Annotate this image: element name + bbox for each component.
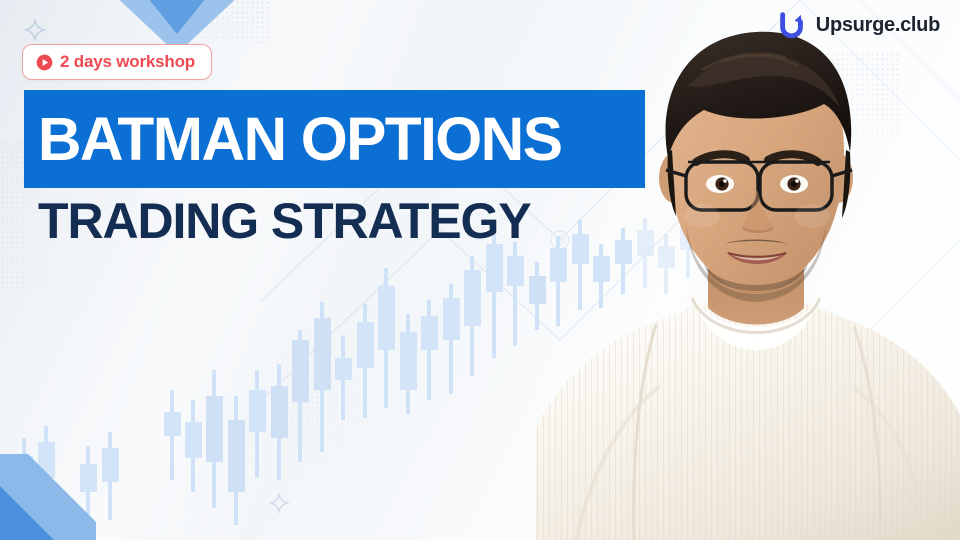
brand-name: Upsurge.club bbox=[816, 14, 940, 37]
background-sheen bbox=[0, 0, 960, 540]
brand-logo[interactable]: Upsurge.club bbox=[777, 10, 940, 40]
headline-secondary-text: TRADING STRATEGY bbox=[38, 196, 531, 246]
presenter-portrait bbox=[536, 0, 960, 540]
headline-primary-text: BATMAN OPTIONS bbox=[24, 109, 561, 170]
play-circle-icon bbox=[36, 54, 53, 71]
halftone-dots bbox=[210, 330, 400, 480]
chevron-bottom-left-decoration bbox=[0, 454, 120, 540]
halftone-dots bbox=[150, 0, 270, 46]
diagonal-arrow-outline bbox=[260, 0, 960, 540]
banner-canvas: Upsurge.club 2 days workshop BATMAN OPTI… bbox=[0, 0, 960, 540]
halftone-dots bbox=[770, 52, 900, 136]
glasses-icon bbox=[666, 162, 852, 210]
workshop-duration-badge[interactable]: 2 days workshop bbox=[22, 44, 212, 80]
headline-primary-banner: BATMAN OPTIONS bbox=[24, 90, 645, 188]
sweater bbox=[536, 298, 960, 540]
sparkle-x-icon bbox=[23, 18, 47, 42]
eyes bbox=[706, 175, 808, 193]
upsurge-u-arrow-icon bbox=[777, 10, 807, 40]
badge-label: 2 days workshop bbox=[60, 52, 195, 72]
sparkle-x-icon bbox=[268, 492, 290, 514]
